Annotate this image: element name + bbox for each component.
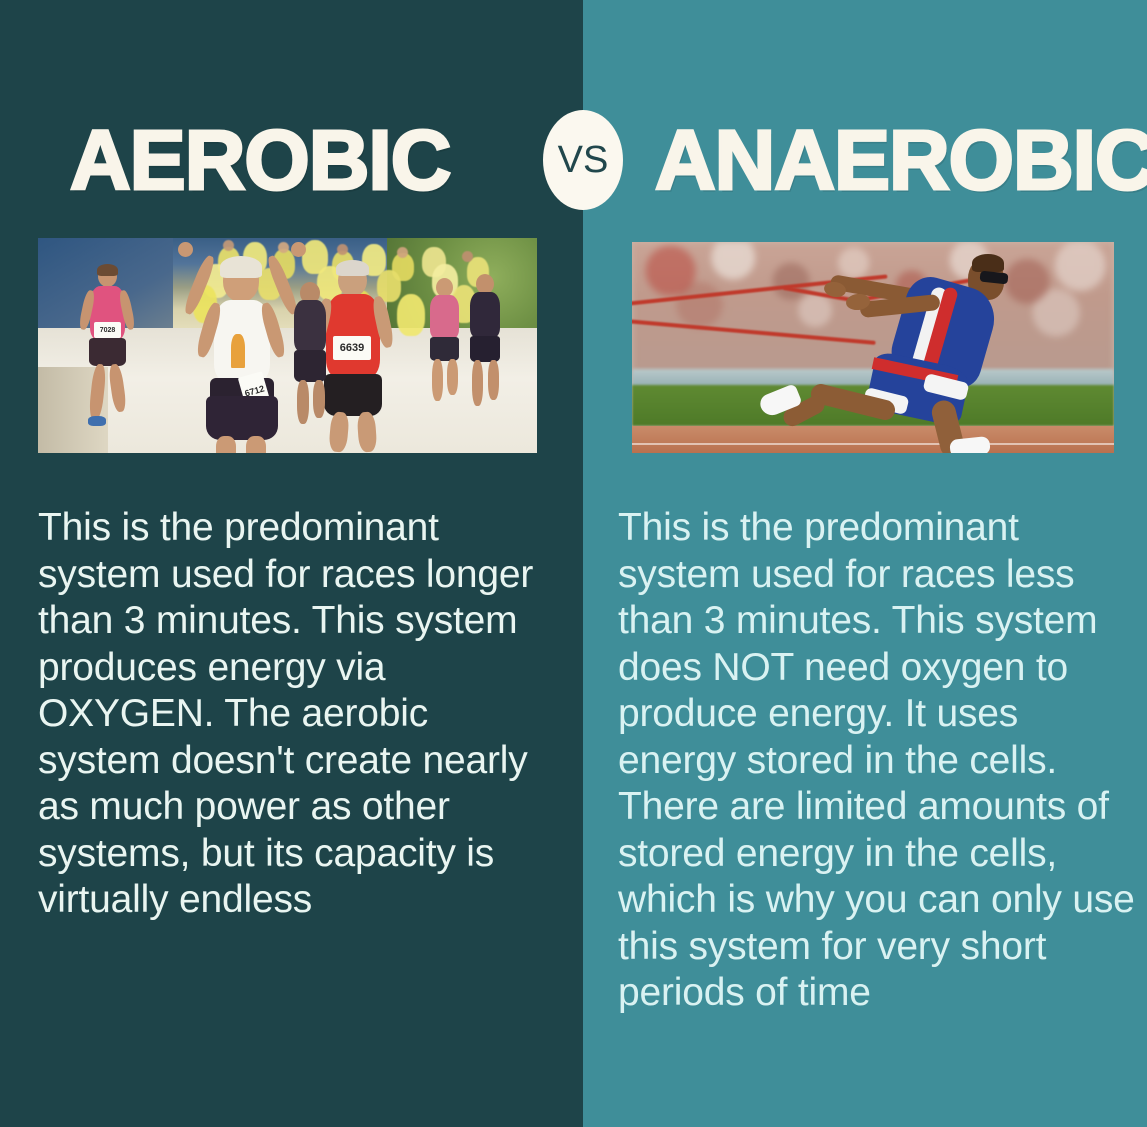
anaerobic-photo (632, 242, 1114, 453)
vs-badge: VS (543, 110, 623, 210)
aerobic-title: AEROBIC (70, 112, 450, 208)
photo-running-track (632, 426, 1114, 453)
aerobic-description: This is the predominant system used for … (38, 505, 558, 924)
running-shoe (949, 436, 991, 453)
photo-lane-line (632, 443, 1114, 445)
infographic-root: AEROBIC ANAEROBIC VS (0, 0, 1147, 1127)
anaerobic-description: This is the predominant system used for … (618, 505, 1142, 1017)
aerobic-photo: 7028 6712 (38, 238, 537, 453)
anaerobic-title: ANAEROBIC (655, 112, 1147, 208)
vs-label: VS (558, 141, 609, 179)
bib-red-runner: 6639 (333, 336, 371, 360)
